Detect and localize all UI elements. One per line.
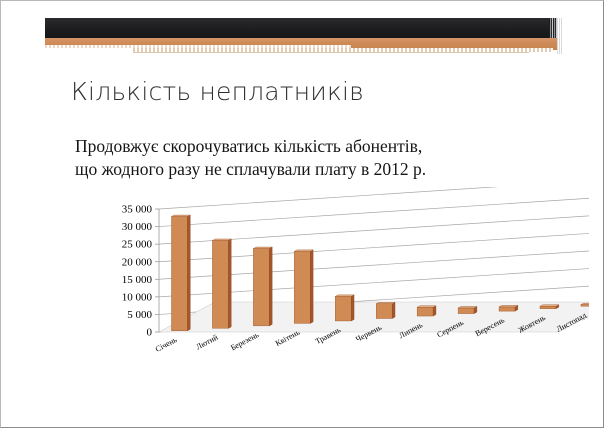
bar-column <box>212 239 231 328</box>
bar-side-face <box>228 239 231 328</box>
bar-side-face <box>392 302 395 318</box>
bar-top-face <box>499 305 518 307</box>
bar-side-face <box>187 215 190 331</box>
bar-side-face <box>269 247 272 326</box>
slide-subtitle: Продовжує скорочуватись кількість абонен… <box>75 135 545 181</box>
bar-column <box>294 250 313 324</box>
y-axis-tick-label: 15 000 <box>122 274 153 286</box>
bar-column <box>376 302 395 318</box>
bar-front-face <box>212 240 228 328</box>
bar-front-face <box>458 308 474 314</box>
y-axis-tick-label: 5 000 <box>127 309 152 321</box>
gridline <box>159 187 589 209</box>
bar-top-face <box>335 295 354 297</box>
header-right-edge-accent <box>557 18 563 54</box>
chart-canvas: 35 00030 00025 00020 00015 00010 0005 00… <box>111 187 589 399</box>
bar-side-face <box>310 250 313 324</box>
bar-column <box>171 215 190 331</box>
bar-column <box>417 306 436 316</box>
subtitle-line-2: що жодного разу не сплачували плату в 20… <box>75 158 545 181</box>
x-axis-category-label: Березень <box>229 330 260 352</box>
bar-column <box>540 305 559 309</box>
bar-side-face <box>433 306 436 316</box>
bar-column <box>335 295 354 321</box>
bar-top-face <box>376 302 395 304</box>
bar-front-face <box>253 249 269 326</box>
y-axis-tick-label: 0 <box>147 327 153 339</box>
y-axis-tick-label: 25 000 <box>122 239 153 251</box>
bar-front-face <box>499 307 515 311</box>
bar-front-face <box>294 251 310 323</box>
x-axis-category-label: Лютий <box>195 332 220 351</box>
y-axis-tick-label: 35 000 <box>122 204 153 216</box>
page-title: Кількість неплатників <box>71 77 364 106</box>
y-axis-tick-label: 10 000 <box>122 291 153 303</box>
bar-front-face <box>376 304 392 319</box>
chart-axis <box>155 209 159 332</box>
bar-front-face <box>417 307 433 316</box>
bar-top-face <box>294 250 313 252</box>
bar-column <box>253 247 272 326</box>
header-thin-rule <box>133 52 529 53</box>
bar-front-face <box>540 306 556 308</box>
presentation-slide: Кількість неплатників Продовжує скорочув… <box>0 0 604 428</box>
bar-top-face <box>253 247 272 249</box>
x-axis-category-label: Січень <box>154 335 179 354</box>
bar-top-face <box>458 306 477 308</box>
bar-front-face <box>171 217 187 331</box>
subtitle-line-1: Продовжує скорочуватись кількість абонен… <box>75 135 545 158</box>
bar-column <box>499 305 518 311</box>
y-axis-tick-label: 30 000 <box>122 221 153 233</box>
slide-header-decoration <box>1 1 604 67</box>
bar-front-face <box>581 305 589 307</box>
bar-chart-3d: 35 00030 00025 00020 00015 00010 0005 00… <box>111 187 589 399</box>
bar-column <box>458 306 477 313</box>
gridline <box>159 197 589 227</box>
bar-front-face <box>335 296 351 321</box>
bar-top-face <box>171 215 190 217</box>
header-dark-bar <box>45 18 561 38</box>
y-axis-tick-label: 20 000 <box>122 256 153 268</box>
bar-top-face <box>212 239 231 241</box>
bar-side-face <box>351 295 354 321</box>
bar-top-face <box>417 306 436 308</box>
chart-y-axis-labels: 35 00030 00025 00020 00015 00010 0005 00… <box>122 204 153 339</box>
bar-top-face <box>540 305 559 307</box>
